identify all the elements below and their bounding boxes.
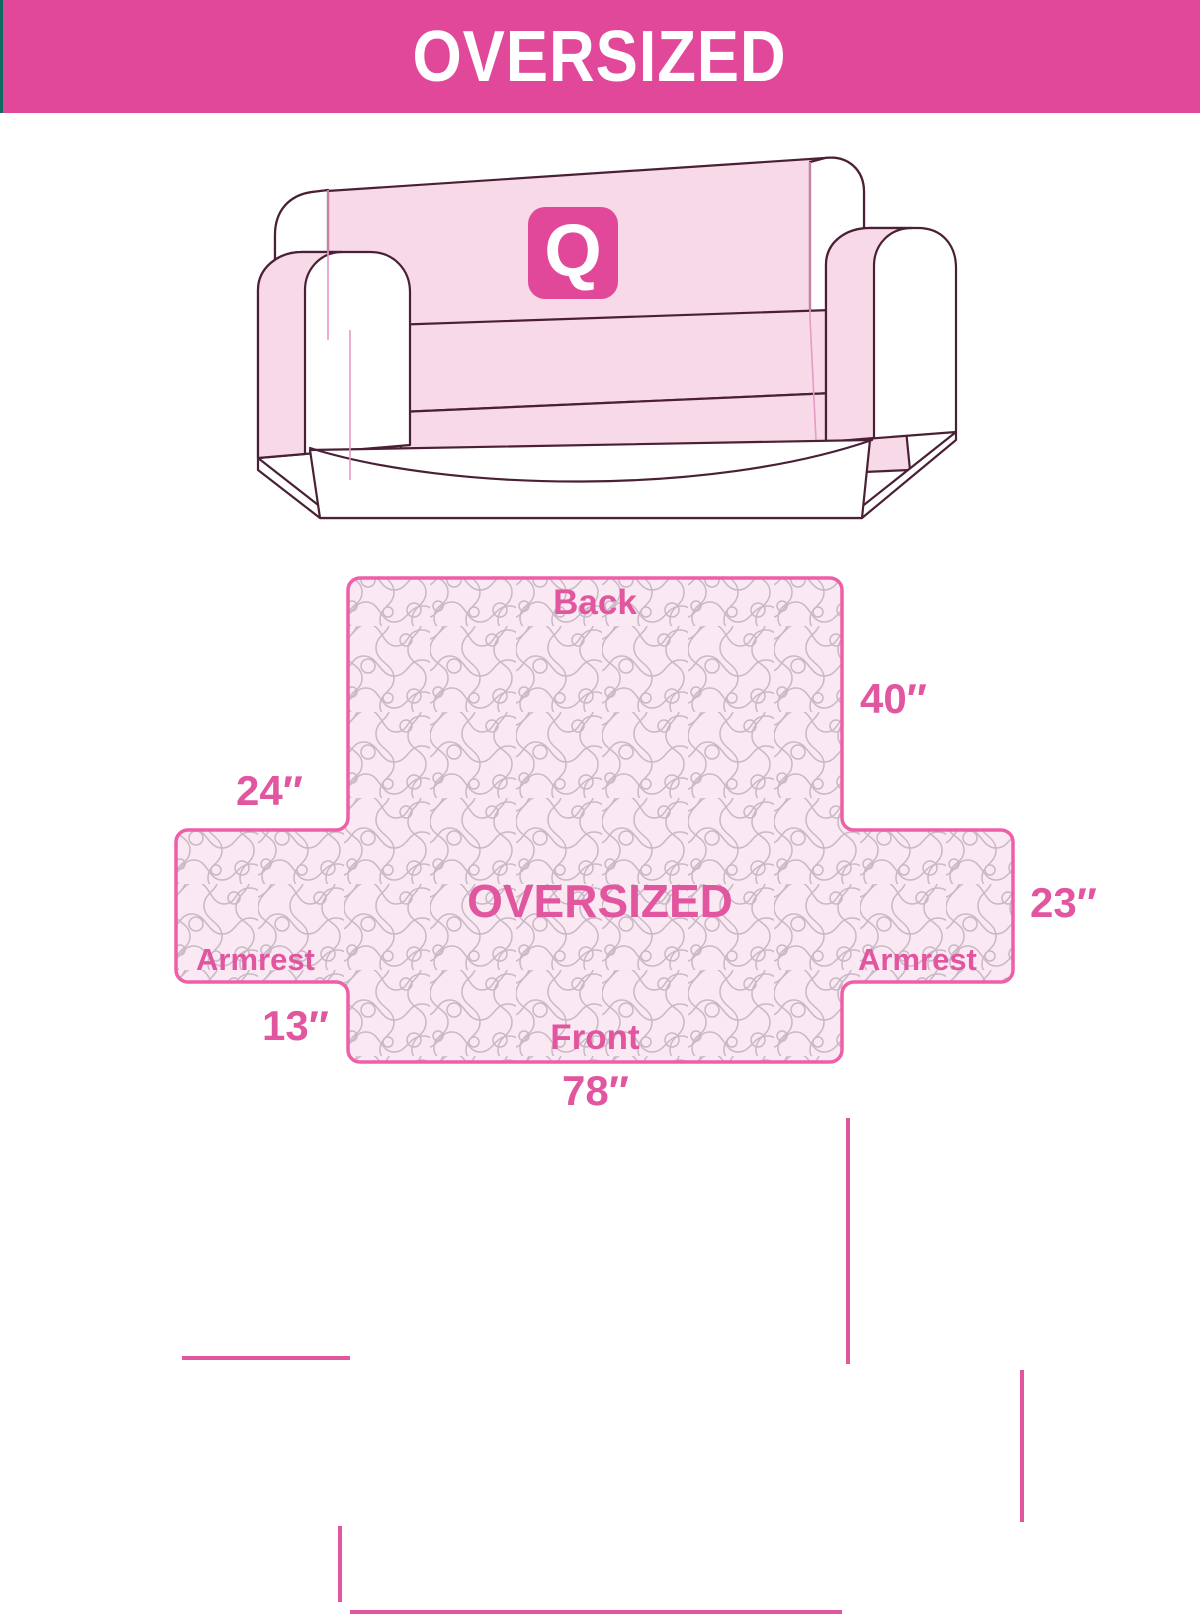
banner-edge-strip <box>0 0 3 113</box>
brand-logo-letter: Q <box>544 214 602 288</box>
dimension-line-armrest-height <box>1020 1370 1024 1522</box>
sofa-drawing-svg <box>250 140 960 530</box>
sofa-illustration <box>250 140 960 530</box>
panel-label-front: Front <box>530 1020 660 1055</box>
panel-label-armrest-left: Armrest <box>196 944 315 975</box>
dimension-label-armrest-width: 24″ <box>236 770 303 812</box>
dimension-label-front-height: 13″ <box>262 1005 329 1047</box>
dimension-label-total-width: 78″ <box>562 1070 629 1112</box>
dimension-line-front-height <box>338 1526 342 1602</box>
dimension-label-armrest-height: 23″ <box>1030 882 1097 924</box>
slipcover-outline <box>176 578 1013 1062</box>
dimension-line-back-height <box>846 1118 850 1364</box>
header-banner: OVERSIZED <box>0 0 1200 113</box>
panel-label-armrest-right: Armrest <box>858 944 977 975</box>
brand-logo-badge: Q <box>528 207 618 299</box>
page-title: OVERSIZED <box>413 21 787 93</box>
dimension-line-armrest-width <box>182 1356 350 1360</box>
panel-label-back: Back <box>530 585 660 620</box>
dimension-label-back-height: 40″ <box>860 678 927 720</box>
dimension-line-total-width <box>350 1610 842 1614</box>
panel-label-center: OVERSIZED <box>440 878 760 924</box>
